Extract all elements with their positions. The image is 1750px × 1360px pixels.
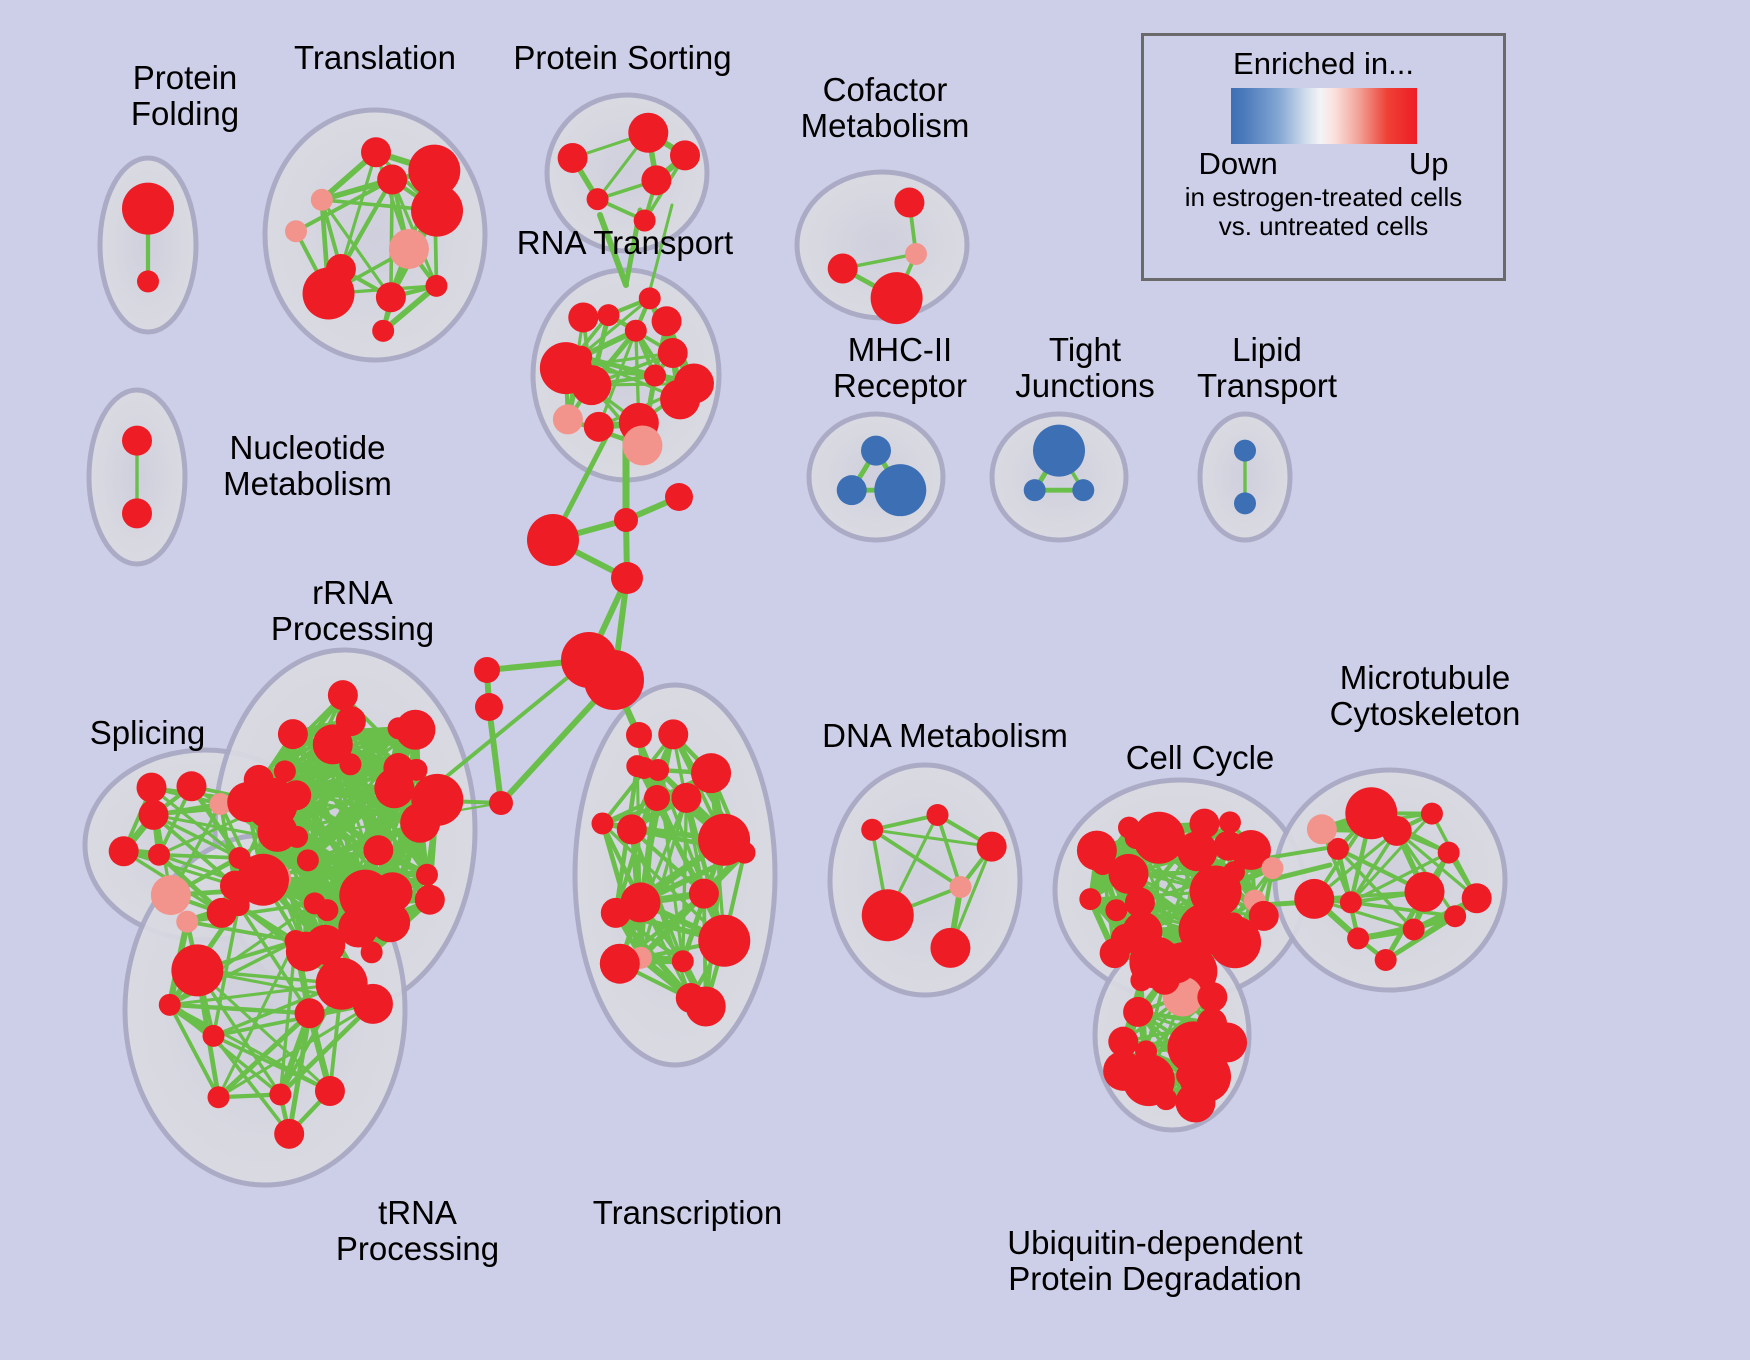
network-node-rrna-processing — [281, 780, 311, 810]
network-node-protein-folding — [137, 270, 159, 292]
cluster-hull-protein-sorting — [547, 95, 707, 251]
network-node-rna-transport — [540, 342, 592, 394]
network-node-ubiquitin-protein-degradation — [1123, 997, 1153, 1027]
cluster-hull-dna-metabolism — [830, 765, 1020, 995]
network-node-rna-transport — [584, 412, 614, 442]
network-node-dna-metabolism — [977, 832, 1007, 862]
legend-endpoints: Down Up — [1199, 146, 1449, 182]
network-node-splicing — [137, 773, 167, 803]
network-node-splicing — [151, 875, 191, 915]
network-node-rna-transport — [639, 287, 661, 309]
legend-caption-line1: in estrogen-treated cells — [1185, 183, 1462, 212]
network-node-nucleotide-metabolism — [122, 426, 152, 456]
network-node-cell-cycle — [1105, 899, 1127, 921]
network-node-splicing — [139, 800, 169, 830]
network-node-protein-folding — [122, 183, 174, 235]
network-node-tight-junctions — [1072, 479, 1094, 501]
network-node-cofactor-metabolism — [905, 243, 927, 265]
network-node-rna-transport — [553, 404, 583, 434]
legend-high-label: Up — [1409, 146, 1449, 182]
network-node-ubiquitin-protein-degradation — [1207, 1022, 1247, 1062]
network-node-rrna-processing — [415, 885, 445, 915]
network-node-mhc-ii-receptor — [861, 436, 891, 466]
network-node-cell-cycle — [1219, 811, 1241, 833]
network-node-cell-cycle — [1118, 817, 1140, 839]
network-node-trna-processing — [315, 1076, 345, 1106]
network-node-translation — [425, 275, 447, 297]
network-node-trna-processing — [159, 994, 181, 1016]
network-node-bridge — [474, 657, 500, 683]
network-node-transcription — [672, 950, 694, 972]
legend-caption: in estrogen-treated cells vs. untreated … — [1185, 183, 1462, 241]
network-node-splicing — [109, 836, 139, 866]
network-node-ubiquitin-protein-degradation — [1197, 982, 1227, 1012]
network-node-ubiquitin-protein-degradation — [1103, 1051, 1143, 1091]
network-node-microtubule-cytoskeleton — [1462, 883, 1492, 913]
network-node-bridge — [527, 514, 579, 566]
network-node-trna-processing — [269, 1083, 291, 1105]
network-node-splicing — [148, 844, 170, 866]
network-node-dna-metabolism — [861, 819, 883, 841]
network-node-trna-processing — [274, 1119, 304, 1149]
network-node-microtubule-cytoskeleton — [1347, 927, 1369, 949]
network-node-transcription — [691, 753, 731, 793]
network-node-transcription — [658, 719, 688, 749]
network-node-transcription — [601, 898, 631, 928]
network-node-trna-processing — [353, 984, 393, 1024]
network-node-rna-transport — [568, 302, 598, 332]
network-node-microtubule-cytoskeleton — [1403, 919, 1425, 941]
network-node-translation — [311, 189, 333, 211]
network-node-rrna-processing — [370, 902, 410, 942]
network-node-ubiquitin-protein-degradation — [1176, 1083, 1216, 1123]
network-node-microtubule-cytoskeleton — [1438, 842, 1460, 864]
network-node-trna-processing — [203, 1025, 225, 1047]
network-node-transcription — [617, 814, 647, 844]
network-node-transcription — [698, 915, 750, 967]
network-node-bridge — [665, 483, 693, 511]
network-node-transcription — [689, 879, 719, 909]
legend-low-label: Down — [1199, 146, 1278, 182]
network-node-rrna-processing — [336, 706, 366, 736]
network-node-ubiquitin-protein-degradation — [1155, 1088, 1177, 1110]
network-node-protein-sorting — [628, 113, 668, 153]
network-node-trna-processing — [176, 911, 198, 933]
network-node-dna-metabolism — [950, 876, 972, 898]
network-node-translation — [389, 229, 429, 269]
network-node-ubiquitin-protein-degradation — [1156, 943, 1196, 983]
network-node-nucleotide-metabolism — [122, 498, 152, 528]
network-node-cell-cycle — [1249, 901, 1279, 931]
network-node-rna-transport — [652, 306, 682, 336]
network-node-mhc-ii-receptor — [837, 475, 867, 505]
network-node-microtubule-cytoskeleton — [1444, 905, 1466, 927]
network-node-microtubule-cytoskeleton — [1294, 879, 1334, 919]
network-node-bridge — [633, 757, 655, 779]
network-node-rrna-processing — [361, 941, 383, 963]
network-node-trna-processing — [304, 892, 326, 914]
network-node-rrna-processing — [274, 760, 296, 782]
network-node-cofactor-metabolism — [894, 188, 924, 218]
network-node-cell-cycle — [1079, 888, 1101, 910]
network-node-cofactor-metabolism — [871, 272, 923, 324]
network-node-rrna-processing — [411, 774, 463, 826]
network-node-dna-metabolism — [930, 928, 970, 968]
network-node-splicing — [176, 771, 206, 801]
legend-title: Enriched in... — [1233, 46, 1414, 82]
enrichment-map-figure: Protein FoldingTranslationProtein Sortin… — [0, 0, 1750, 1360]
network-node-rrna-processing — [395, 710, 435, 750]
legend-color-bar — [1231, 88, 1417, 144]
network-node-trna-processing — [285, 930, 307, 952]
network-node-bridge — [614, 508, 638, 532]
network-node-microtubule-cytoskeleton — [1375, 949, 1397, 971]
network-node-tight-junctions — [1024, 479, 1046, 501]
network-node-bridge — [626, 722, 652, 748]
network-node-tight-junctions — [1033, 425, 1085, 477]
cluster-hull-mhc-ii-receptor — [809, 414, 943, 540]
network-node-rna-transport — [622, 426, 662, 466]
network-node-translation — [372, 320, 394, 342]
network-node-translation — [408, 145, 460, 197]
network-node-mhc-ii-receptor — [874, 464, 926, 516]
network-node-dna-metabolism — [926, 804, 948, 826]
network-node-cell-cycle — [1189, 809, 1219, 839]
network-node-trna-processing — [228, 894, 250, 916]
network-node-rrna-processing — [297, 849, 319, 871]
network-node-translation — [376, 282, 406, 312]
network-node-translation — [377, 165, 407, 195]
network-node-translation — [285, 220, 307, 242]
network-edge — [430, 660, 589, 790]
network-node-protein-sorting — [587, 188, 609, 210]
network-node-cell-cycle — [1100, 938, 1130, 968]
network-node-translation — [303, 268, 355, 320]
network-node-rna-transport — [644, 365, 666, 387]
network-edge — [391, 180, 392, 298]
network-node-protein-sorting — [558, 143, 588, 173]
network-node-rrna-processing — [227, 782, 267, 822]
network-node-bridge — [611, 562, 643, 594]
network-node-cofactor-metabolism — [828, 253, 858, 283]
network-node-lipid-transport — [1234, 440, 1256, 462]
network-node-rna-transport — [597, 304, 619, 326]
network-node-ubiquitin-protein-degradation — [1130, 969, 1152, 991]
network-node-microtubule-cytoskeleton — [1340, 891, 1362, 913]
network-node-rna-transport — [674, 364, 714, 404]
network-node-rrna-processing — [278, 719, 308, 749]
network-node-rrna-processing — [416, 864, 438, 886]
network-edge — [489, 707, 501, 803]
network-node-transcription — [686, 987, 726, 1027]
network-node-trna-processing — [295, 998, 325, 1028]
network-node-cell-cycle — [1261, 857, 1283, 879]
network-node-protein-sorting — [641, 165, 671, 195]
network-node-trna-processing — [208, 1086, 230, 1108]
network-node-bridge — [644, 785, 670, 811]
network-node-transcription — [733, 842, 755, 864]
network-node-trna-processing — [171, 944, 223, 996]
network-node-transcription — [592, 812, 614, 834]
network-node-microtubule-cytoskeleton — [1421, 803, 1443, 825]
legend-caption-line2: vs. untreated cells — [1185, 212, 1462, 241]
network-node-bridge — [584, 650, 644, 710]
network-node-microtubule-cytoskeleton — [1345, 787, 1397, 839]
network-node-microtubule-cytoskeleton — [1405, 872, 1445, 912]
network-node-microtubule-cytoskeleton — [1307, 814, 1337, 844]
network-node-bridge — [475, 693, 503, 721]
network-node-bridge — [489, 791, 513, 815]
network-node-rna-transport — [658, 338, 688, 368]
network-node-rrna-processing — [363, 835, 393, 865]
network-node-rna-transport — [625, 320, 647, 342]
legend-panel: Enriched in... Down Up in estrogen-treat… — [1141, 33, 1506, 281]
network-node-rrna-processing — [328, 680, 358, 710]
network-node-dna-metabolism — [862, 889, 914, 941]
network-node-protein-sorting — [634, 210, 656, 232]
network-node-lipid-transport — [1234, 492, 1256, 514]
network-node-rrna-processing — [257, 812, 297, 852]
network-node-transcription — [600, 944, 640, 984]
network-node-protein-sorting — [670, 140, 700, 170]
network-node-translation — [361, 137, 391, 167]
network-node-transcription — [671, 783, 701, 813]
network-node-cell-cycle — [1077, 831, 1117, 871]
